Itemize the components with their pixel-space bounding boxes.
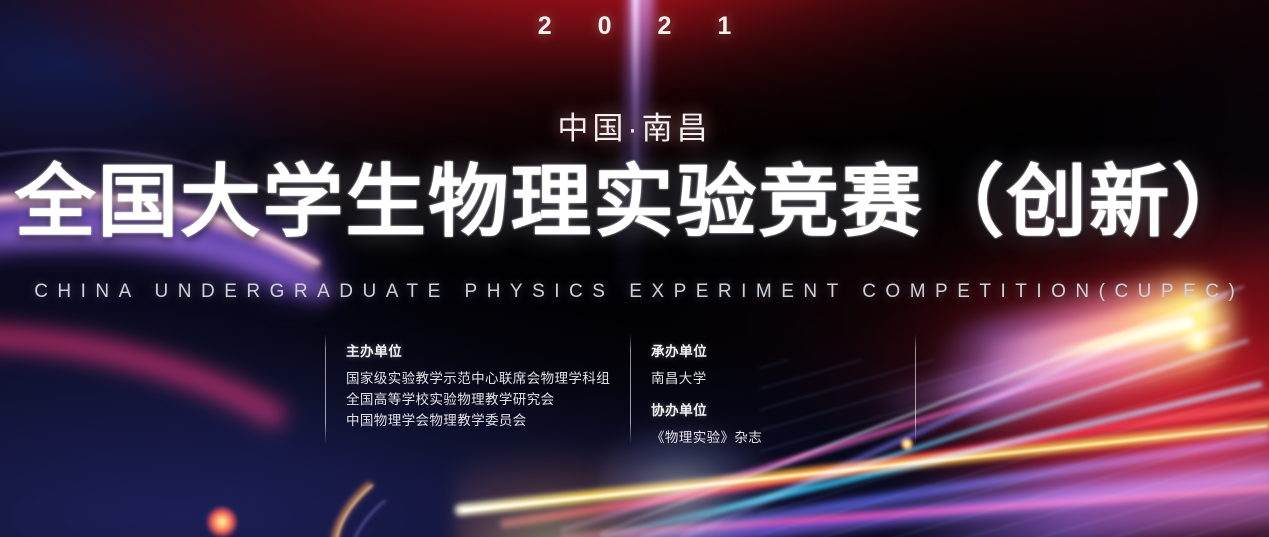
event-banner: 2021 中国·南昌 全国大学生物理实验竞赛（创新） CHINA UNDERGR… [0, 0, 1269, 537]
credits-column-host: 承办单位 南昌大学 协办单位 《物理实验》杂志 [651, 340, 762, 448]
credits-block: 主办单位 国家级实验教学示范中心联席会物理学科组 全国高等学校实验物理教学研究会… [325, 334, 925, 444]
credits-divider-left [325, 334, 326, 444]
banner-content: 2021 中国·南昌 全国大学生物理实验竞赛（创新） CHINA UNDERGR… [0, 0, 1269, 537]
credits-line-organizer-3: 中国物理学会物理教学委员会 [346, 410, 610, 431]
credits-heading-cohost: 协办单位 [651, 399, 762, 419]
credits-heading-organizer: 主办单位 [346, 340, 610, 360]
credits-divider-right [915, 334, 916, 444]
credits-line-organizer-2: 全国高等学校实验物理教学研究会 [346, 389, 610, 410]
credits-heading-host: 承办单位 [651, 340, 762, 360]
event-year: 2021 [0, 12, 1269, 41]
credits-spacer [651, 389, 762, 399]
event-title-english: CHINA UNDERGRADUATE PHYSICS EXPERIMENT C… [0, 281, 1269, 303]
credits-line-host-1: 南昌大学 [651, 368, 762, 389]
credits-line-cohost-1: 《物理实验》杂志 [651, 427, 762, 448]
event-location: 中国·南昌 [0, 103, 1269, 148]
event-title-chinese: 全国大学生物理实验竞赛（创新） [0, 160, 1269, 244]
credits-column-organizer: 主办单位 国家级实验教学示范中心联席会物理学科组 全国高等学校实验物理教学研究会… [346, 340, 610, 431]
credits-line-organizer-1: 国家级实验教学示范中心联席会物理学科组 [346, 368, 610, 389]
credits-divider-middle [630, 334, 631, 444]
